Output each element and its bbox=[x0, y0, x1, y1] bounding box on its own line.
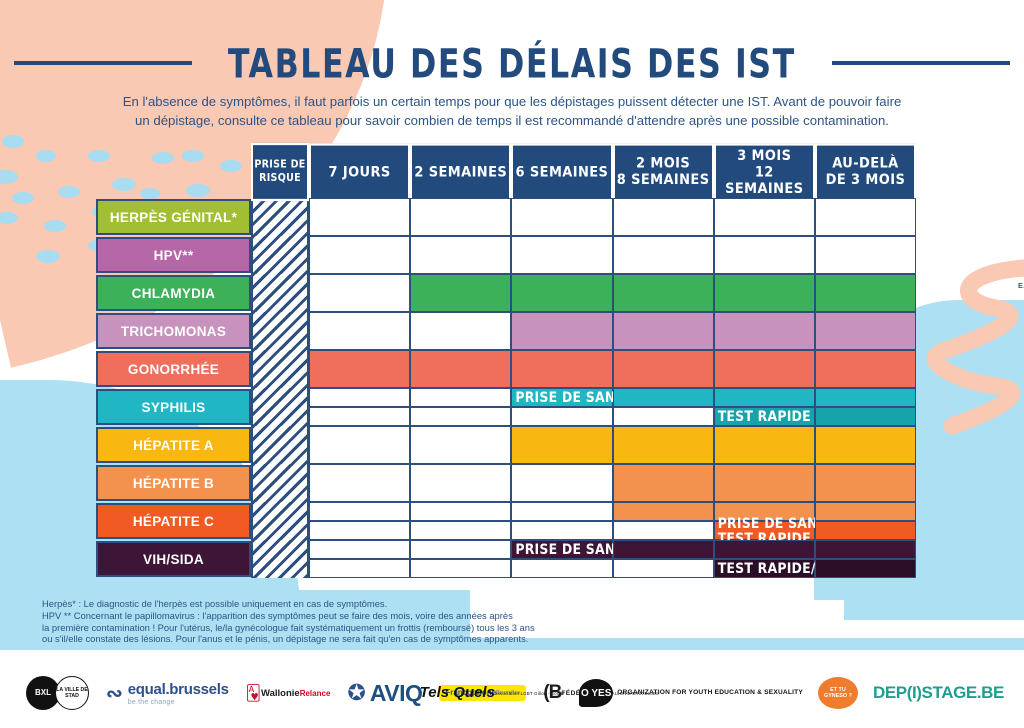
cell-bottom-r8-c5 bbox=[815, 521, 916, 540]
column-header-1: 2 SEMAINES bbox=[410, 143, 511, 200]
footnote-line-2: HPV ** Concernant le papillomavirus : l'… bbox=[42, 610, 642, 622]
table-row: CHLAMYDIA bbox=[96, 274, 916, 312]
cell-r0-c5 bbox=[815, 198, 916, 236]
risk-hatch-cell bbox=[251, 198, 309, 236]
cell-split-r5-c4: TEST RAPIDE bbox=[714, 388, 815, 426]
cell-top-r5-c0 bbox=[309, 388, 410, 407]
cell-tag-line: PRISE DE SANG bbox=[515, 543, 612, 557]
table-header-row: PRISE DERISQUE7 JOURS2 SEMAINES6 SEMAINE… bbox=[96, 146, 916, 198]
cell-top-r8-c0 bbox=[309, 502, 410, 521]
footnotes: Herpès* : Le diagnostic de l'herpès est … bbox=[42, 598, 642, 645]
row-cells bbox=[309, 236, 916, 274]
cell-tag-bottom-r9: TEST RAPIDE/AUTO-TEST bbox=[718, 562, 815, 576]
column-header-0: 7 JOURS bbox=[309, 143, 410, 200]
cell-r3-c0 bbox=[309, 312, 410, 350]
title-row: TABLEAU DES DÉLAIS DES IST bbox=[0, 40, 1024, 86]
cell-r4-c0 bbox=[309, 350, 410, 388]
column-header-line-1: 7 JOURS bbox=[328, 164, 390, 181]
bxl-city-label: LA VILLE DE STAD bbox=[55, 676, 89, 710]
cell-r2-c5 bbox=[815, 274, 916, 312]
row-cells: PRISE DE SANGTEST RAPIDE/AUTO-TEST bbox=[309, 540, 916, 578]
cell-bottom-r8-c2 bbox=[511, 521, 612, 540]
cell-r1-c2 bbox=[511, 236, 612, 274]
cell-r4-c1 bbox=[410, 350, 511, 388]
cell-r1-c3 bbox=[613, 236, 714, 274]
table-row: HÉPATITE CPRISE DE SANGTEST RAPIDE bbox=[96, 502, 916, 540]
cell-bottom-r8-c1 bbox=[410, 521, 511, 540]
cell-split-r8-c5 bbox=[815, 502, 916, 540]
column-header-line-1: AU-DELÀ bbox=[826, 156, 906, 173]
cell-r1-c5 bbox=[815, 236, 916, 274]
cell-r3-c3 bbox=[613, 312, 714, 350]
cell-r2-c1 bbox=[410, 274, 511, 312]
row-label-4[interactable]: GONORRHÉE bbox=[96, 351, 251, 387]
cell-bottom-r9-c4: TEST RAPIDE/AUTO-TEST bbox=[714, 559, 815, 578]
title-rule-left bbox=[14, 61, 192, 65]
cell-r1-c0 bbox=[309, 236, 410, 274]
row-cells bbox=[309, 312, 916, 350]
row-label-3[interactable]: TRICHOMONAS bbox=[96, 313, 251, 349]
logo-equal-brussels: ∾ equal.brussels be the change bbox=[106, 681, 229, 706]
cell-top-r9-c3 bbox=[613, 540, 714, 559]
wallonie-label: Wallonie bbox=[261, 688, 300, 699]
cell-r2-c4 bbox=[714, 274, 815, 312]
risk-header-line-1: PRISE DE bbox=[254, 159, 305, 172]
risk-hatch-cell bbox=[251, 274, 309, 312]
column-header-4: 3 MOIS12 SEMAINES bbox=[714, 143, 815, 200]
cell-top-r8-c5 bbox=[815, 502, 916, 521]
logo-wallonie: 🂱 Wallonie Relance bbox=[246, 687, 331, 700]
cell-bottom-r8-c3 bbox=[613, 521, 714, 540]
cell-r0-c2 bbox=[511, 198, 612, 236]
cell-top-r8-c2 bbox=[511, 502, 612, 521]
cell-r4-c4 bbox=[714, 350, 815, 388]
equal-brussels-label: equal.brussels bbox=[128, 681, 229, 698]
row-label-8[interactable]: HÉPATITE C bbox=[96, 503, 251, 539]
risk-header-line-2: RISQUE bbox=[259, 172, 301, 185]
subtitle-line-2: un dépistage, consulte ce tableau pour s… bbox=[92, 111, 932, 130]
delays-table: PRISE DERISQUE7 JOURS2 SEMAINES6 SEMAINE… bbox=[96, 146, 916, 578]
wallonie-relance-label: Relance bbox=[300, 689, 331, 698]
cell-bottom-r5-c2 bbox=[511, 407, 612, 426]
column-header-line-1: 2 MOIS bbox=[617, 156, 710, 173]
risk-hatch-cell bbox=[251, 236, 309, 274]
cell-r6-c0 bbox=[309, 426, 410, 464]
row-cells: PRISE DE SANGTEST RAPIDE bbox=[309, 388, 916, 426]
cell-top-r9-c5 bbox=[815, 540, 916, 559]
column-header-line-2: DE 3 MOIS bbox=[826, 172, 906, 189]
table-row: TRICHOMONAS bbox=[96, 312, 916, 350]
row-label-1[interactable]: HPV** bbox=[96, 237, 251, 273]
logo-o-yes: O YES ORGANIZATION FOR YOUTH EDUCATION &… bbox=[579, 679, 803, 707]
table-row: VIH/SIDAPRISE DE SANGTEST RAPIDE/AUTO-TE… bbox=[96, 540, 916, 578]
cell-top-r5-c1 bbox=[410, 388, 511, 407]
cell-r1-c4 bbox=[714, 236, 815, 274]
cell-tag-bottom-r5: TEST RAPIDE bbox=[718, 410, 811, 424]
column-header-prise-de-risque: PRISE DERISQUE bbox=[251, 143, 309, 201]
column-header-line-1: 6 SEMAINES bbox=[516, 164, 609, 181]
cell-split-r9-c3 bbox=[613, 540, 714, 578]
cell-r3-c5 bbox=[815, 312, 916, 350]
cell-top-r8-c3 bbox=[613, 502, 714, 521]
cell-tag-bottom-r8: PRISE DE SANGTEST RAPIDE bbox=[718, 517, 815, 541]
cell-r7-c5 bbox=[815, 464, 916, 502]
cell-bottom-r9-c3 bbox=[613, 559, 714, 578]
aviq-bird-icon: ✪ bbox=[347, 680, 365, 706]
peach-squiggle-icon bbox=[900, 258, 1024, 458]
cell-split-r5-c3 bbox=[613, 388, 714, 426]
risk-hatch-cell bbox=[251, 426, 309, 464]
logo-bxl: BXL LA VILLE DE STAD bbox=[26, 676, 89, 710]
row-label-0[interactable]: HERPÈS GÉNITAL* bbox=[96, 199, 251, 235]
column-header-line-2: 8 SEMAINES bbox=[617, 172, 710, 189]
cell-r7-c1 bbox=[410, 464, 511, 502]
cell-r3-c2 bbox=[511, 312, 612, 350]
row-cells: PRISE DE SANGTEST RAPIDE bbox=[309, 502, 916, 540]
footnote-line-1: Herpès* : Le diagnostic de l'herpès est … bbox=[42, 598, 642, 610]
column-header-5: AU-DELÀDE 3 MOIS bbox=[815, 143, 916, 200]
cell-top-r5-c2: PRISE DE SANG bbox=[511, 388, 612, 407]
risk-hatch-cell bbox=[251, 350, 309, 388]
cell-r1-c1 bbox=[410, 236, 511, 274]
cell-r6-c4 bbox=[714, 426, 815, 464]
cell-r2-c2 bbox=[511, 274, 612, 312]
cell-r7-c3 bbox=[613, 464, 714, 502]
cell-split-r9-c0 bbox=[309, 540, 410, 578]
page-title: TABLEAU DES DÉLAIS DES IST bbox=[228, 39, 796, 87]
cell-r0-c1 bbox=[410, 198, 511, 236]
cell-r6-c3 bbox=[613, 426, 714, 464]
aviq-label: AVIQ bbox=[370, 680, 423, 707]
cell-split-r8-c4: PRISE DE SANGTEST RAPIDE bbox=[714, 502, 815, 540]
row-cells bbox=[309, 274, 916, 312]
cell-top-r5-c3 bbox=[613, 388, 714, 407]
cell-bottom-r5-c3 bbox=[613, 407, 714, 426]
cell-bottom-r8-c4: PRISE DE SANGTEST RAPIDE bbox=[714, 521, 815, 540]
equal-mark-icon: ∾ bbox=[106, 681, 123, 706]
cell-bottom-r5-c5 bbox=[815, 407, 916, 426]
cell-split-r8-c1 bbox=[410, 502, 511, 540]
cell-bottom-r8-c0 bbox=[309, 521, 410, 540]
table-row: HÉPATITE A bbox=[96, 426, 916, 464]
cell-r7-c4 bbox=[714, 464, 815, 502]
cell-top-r9-c0 bbox=[309, 540, 410, 559]
cell-tag-line: TEST RAPIDE bbox=[718, 410, 811, 424]
logo-gyneso: ET TU GYNESO ? bbox=[818, 677, 858, 709]
cell-top-r9-c1 bbox=[410, 540, 511, 559]
cell-top-r5-c5 bbox=[815, 388, 916, 407]
logo-bar: BXL LA VILLE DE STAD ∾ equal.brussels be… bbox=[0, 658, 1024, 728]
cell-tag-line: TEST RAPIDE bbox=[718, 531, 815, 541]
cell-top-r9-c2: PRISE DE SANG bbox=[511, 540, 612, 559]
cell-split-r5-c2: PRISE DE SANG bbox=[511, 388, 612, 426]
cell-tag-line: TEST RAPIDE/AUTO-TEST bbox=[718, 562, 815, 576]
table-row: HÉPATITE B bbox=[96, 464, 916, 502]
cell-split-r5-c5 bbox=[815, 388, 916, 426]
cell-bottom-r9-c5 bbox=[815, 559, 916, 578]
publisher-credit: E.R. : O-YES ASBL - WWW.O-YES.BE - ÉDITI… bbox=[1018, 281, 1024, 290]
title-rule-right bbox=[832, 61, 1010, 65]
cell-split-r8-c2 bbox=[511, 502, 612, 540]
row-label-7[interactable]: HÉPATITE B bbox=[96, 465, 251, 501]
column-header-2: 6 SEMAINES bbox=[511, 143, 612, 200]
cell-split-r9-c1 bbox=[410, 540, 511, 578]
column-header-line-1: 2 SEMAINES bbox=[414, 164, 507, 181]
cell-r2-c0 bbox=[309, 274, 410, 312]
risk-hatch-cell bbox=[251, 502, 309, 540]
cell-tag-top-r5: PRISE DE SANG bbox=[515, 391, 612, 405]
cell-bottom-r9-c0 bbox=[309, 559, 410, 578]
subtitle-line-1: En l'absence de symptômes, il faut parfo… bbox=[92, 92, 932, 111]
cell-r7-c2 bbox=[511, 464, 612, 502]
risk-hatch-cell bbox=[251, 388, 309, 426]
cell-r3-c1 bbox=[410, 312, 511, 350]
table-row: GONORRHÉE bbox=[96, 350, 916, 388]
cell-r7-c0 bbox=[309, 464, 410, 502]
column-header-3: 2 MOIS8 SEMAINES bbox=[613, 143, 714, 200]
cell-r6-c2 bbox=[511, 426, 612, 464]
footnote-line-3: la première contamination ! Pour l'utéru… bbox=[42, 622, 642, 634]
header-corner-spacer bbox=[96, 147, 251, 183]
cell-split-r8-c0 bbox=[309, 502, 410, 540]
row-label-9[interactable]: VIH/SIDA bbox=[96, 541, 251, 577]
cell-r4-c5 bbox=[815, 350, 916, 388]
row-label-5[interactable]: SYPHILIS bbox=[96, 389, 251, 425]
cell-r0-c3 bbox=[613, 198, 714, 236]
row-cells bbox=[309, 350, 916, 388]
cell-split-r9-c4: TEST RAPIDE/AUTO-TEST bbox=[714, 540, 815, 578]
rooster-icon: 🂱 bbox=[246, 687, 261, 700]
table-row: HERPÈS GÉNITAL* bbox=[96, 198, 916, 236]
risk-hatch-cell bbox=[251, 540, 309, 578]
logo-tels-quels: Tels Quels association LGBT Gillon - Soc… bbox=[420, 686, 565, 700]
row-cells bbox=[309, 426, 916, 464]
cell-tag-line: PRISE DE SANG bbox=[515, 391, 612, 405]
cell-tag-top-r9: PRISE DE SANG bbox=[515, 543, 612, 557]
risk-hatch-cell bbox=[251, 464, 309, 502]
cell-split-r5-c1 bbox=[410, 388, 511, 426]
cell-bottom-r9-c1 bbox=[410, 559, 511, 578]
cell-r4-c3 bbox=[613, 350, 714, 388]
row-cells bbox=[309, 464, 916, 502]
equal-brussels-tagline: be the change bbox=[128, 699, 229, 706]
cell-split-r8-c3 bbox=[613, 502, 714, 540]
row-cells bbox=[309, 198, 916, 236]
oyes-badge-label: O YES bbox=[579, 679, 613, 707]
cell-top-r9-c4 bbox=[714, 540, 815, 559]
cell-bottom-r5-c1 bbox=[410, 407, 511, 426]
cell-split-r9-c5 bbox=[815, 540, 916, 578]
cell-bottom-r5-c4: TEST RAPIDE bbox=[714, 407, 815, 426]
cell-bottom-r9-c2 bbox=[511, 559, 612, 578]
column-header-line-2: 12 SEMAINES bbox=[716, 164, 813, 197]
cell-top-r5-c4 bbox=[714, 388, 815, 407]
column-header-line-1: 3 MOIS bbox=[716, 147, 813, 164]
oyes-description-label: ORGANIZATION FOR YOUTH EDUCATION & SEXUA… bbox=[617, 689, 803, 696]
cell-r6-c1 bbox=[410, 426, 511, 464]
cell-r4-c2 bbox=[511, 350, 612, 388]
logo-group-right: Tels Quels association LGBT Gillon - Soc… bbox=[420, 677, 1004, 709]
tels-quels-sub-label: association LGBT Gillon - Social bbox=[495, 691, 564, 696]
cell-split-r5-c0 bbox=[309, 388, 410, 426]
logo-depistage: DEP(I)STAGE.BE bbox=[873, 683, 1004, 703]
cell-r0-c4 bbox=[714, 198, 815, 236]
poster-canvas: TABLEAU DES DÉLAIS DES IST En l'absence … bbox=[0, 0, 1024, 728]
tels-quels-label: Tels Quels bbox=[420, 686, 495, 700]
footnote-line-4: ou s'il/elle constate des lésions. Pour … bbox=[42, 633, 642, 645]
row-label-6[interactable]: HÉPATITE A bbox=[96, 427, 251, 463]
cell-r3-c4 bbox=[714, 312, 815, 350]
risk-hatch-cell bbox=[251, 312, 309, 350]
cell-r6-c5 bbox=[815, 426, 916, 464]
logo-aviq: ✪ AVIQ bbox=[347, 680, 422, 707]
cell-split-r9-c2: PRISE DE SANG bbox=[511, 540, 612, 578]
subtitle: En l'absence de symptômes, il faut parfo… bbox=[92, 92, 932, 130]
cell-r2-c3 bbox=[613, 274, 714, 312]
table-row: SYPHILISPRISE DE SANGTEST RAPIDE bbox=[96, 388, 916, 426]
header-cells: 7 JOURS2 SEMAINES6 SEMAINES2 MOIS8 SEMAI… bbox=[309, 146, 916, 198]
cell-bottom-r5-c0 bbox=[309, 407, 410, 426]
row-label-2[interactable]: CHLAMYDIA bbox=[96, 275, 251, 311]
cell-top-r8-c1 bbox=[410, 502, 511, 521]
cell-r0-c0 bbox=[309, 198, 410, 236]
table-row: HPV** bbox=[96, 236, 916, 274]
